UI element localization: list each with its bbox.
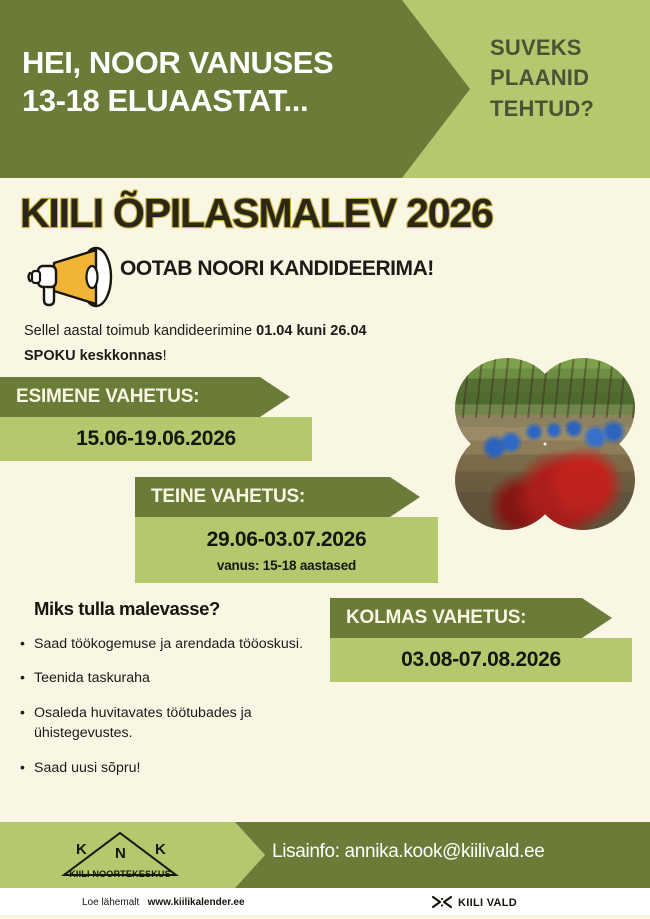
photo-clover-mask <box>455 358 635 530</box>
header-side-line3: TEHTUD? <box>490 94 640 124</box>
knk-letter-left: K <box>76 841 87 858</box>
why-join-title: Miks tulla malevasse? <box>34 598 220 620</box>
why-join-list: Saad töökogemuse ja arendada tööoskusi. … <box>18 634 338 792</box>
knk-letter-right: K <box>155 841 166 858</box>
header-headline-line1: HEI, NOOR VANUSES <box>22 45 333 80</box>
intro-text-2: ! <box>163 348 167 364</box>
list-item: Saad töökogemuse ja arendada tööoskusi. <box>18 634 338 654</box>
shift-2-age-note: vanus: 15-18 aastased <box>217 558 356 573</box>
header-headline: HEI, NOOR VANUSES 13-18 ELUAASTAT... <box>22 44 402 120</box>
intro-text-1: Sellel aastal toimub kandideerimine <box>24 323 256 339</box>
knk-letter-middle: N <box>115 845 126 862</box>
photo-lobe-br <box>531 430 635 530</box>
kiili-vald-label: KIILI VALD <box>458 897 517 909</box>
shift-1-body: 15.06-19.06.2026 <box>0 417 312 461</box>
header-side-line2: PLAANID <box>490 63 640 93</box>
megaphone-icon <box>24 246 124 308</box>
shift-3-dates: 03.08-07.08.2026 <box>401 648 561 672</box>
photo-youth-camp <box>455 358 635 530</box>
footer-contact-email[interactable]: Lisainfo: annika.kook@kiilivald.ee <box>272 841 545 863</box>
list-item: Saad uusi sõpru! <box>18 758 338 778</box>
bottom-baseline <box>0 915 650 919</box>
header-headline-line2: 13-18 ELUAASTAT... <box>22 82 402 120</box>
kiili-vald-mark-icon <box>432 896 452 910</box>
list-item: Teenida taskuraha <box>18 668 338 688</box>
shift-2-heading: TEINE VAHETUS: <box>135 477 420 517</box>
shift-1-heading: ESIMENE VAHETUS: <box>0 377 290 417</box>
list-item: Osaleda huvitavates töötubades ja ühiste… <box>18 703 338 744</box>
header-side-line1: SUVEKS <box>490 33 640 63</box>
shift-3-heading: KOLMAS VAHETUS: <box>330 598 612 638</box>
kiili-vald-logo: KIILI VALD <box>432 896 517 910</box>
page-title: KIILI ÕPILASMALEV 2026 <box>20 190 493 237</box>
shift-2-dates: 29.06-03.07.2026 <box>207 528 367 552</box>
intro-paragraph: Sellel aastal toimub kandideerimine 01.0… <box>24 319 444 369</box>
shift-2-body: 29.06-03.07.2026 vanus: 15-18 aastased <box>135 517 438 583</box>
shift-1-dates: 15.06-19.06.2026 <box>76 427 236 451</box>
subtitle: OOTAB NOORI KANDIDEERIMA! <box>120 257 434 281</box>
shift-3-body: 03.08-07.08.2026 <box>330 638 632 682</box>
bottom-read-more: Loe lähemalt www.kiilikalender.ee <box>82 897 245 908</box>
intro-bold-dates: 01.04 kuni 26.04 <box>256 323 366 339</box>
header-side-question: SUVEKS PLAANID TEHTUD? <box>490 33 640 124</box>
read-more-prefix: Loe lähemalt <box>82 897 139 908</box>
read-more-url[interactable]: www.kiilikalender.ee <box>148 897 245 908</box>
intro-bold-spoku: SPOKU keskkonnas <box>24 348 163 364</box>
poster-root: HEI, NOOR VANUSES 13-18 ELUAASTAT... SUV… <box>0 0 650 919</box>
knk-logo-label: KIILI NOORTEKESKUS <box>58 869 182 879</box>
header-banner: HEI, NOOR VANUSES 13-18 ELUAASTAT... SUV… <box>0 0 650 178</box>
